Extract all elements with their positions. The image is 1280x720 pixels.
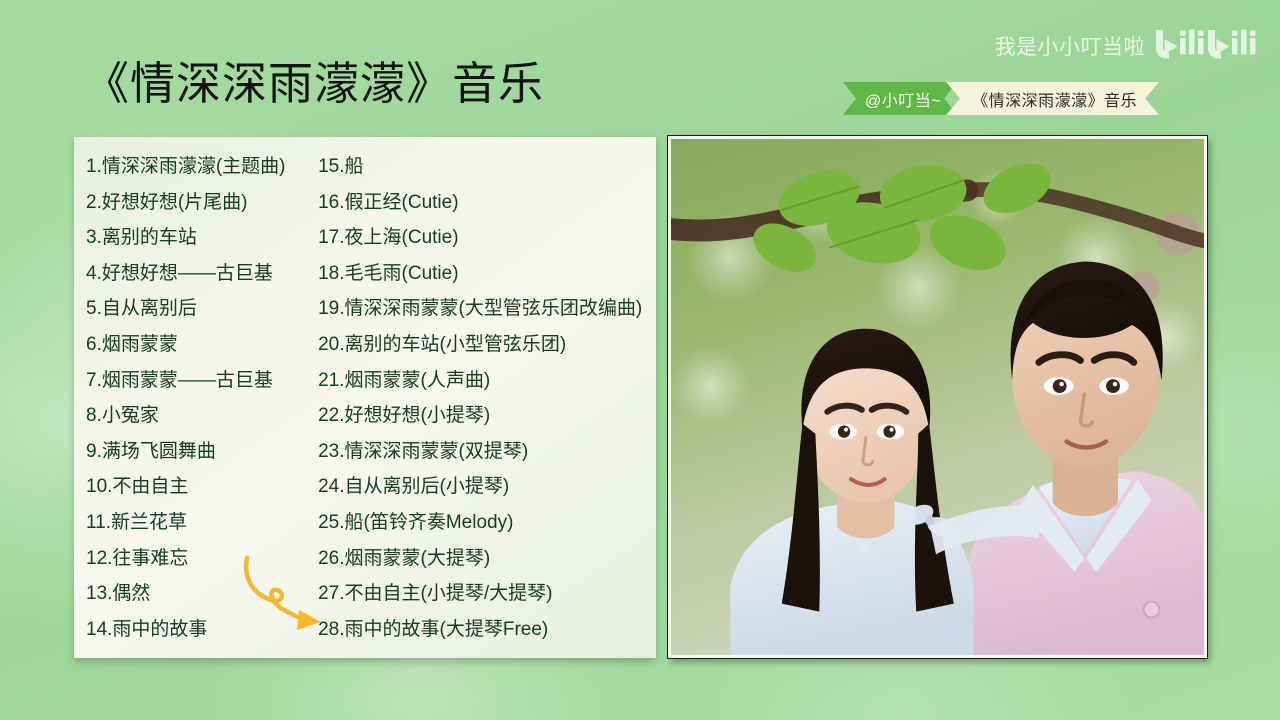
drama-still-image: [671, 139, 1204, 655]
track-item: 21.烟雨蒙蒙(人声曲): [318, 363, 656, 399]
track-item: 13.偶然: [86, 576, 318, 612]
track-item: 22.好想好想(小提琴): [318, 398, 656, 434]
ribbon-handle-label: @小叮当~: [843, 82, 957, 115]
track-item: 28.雨中的故事(大提琴Free): [318, 612, 656, 648]
track-item: 15.船: [318, 149, 656, 185]
track-item: 17.夜上海(Cutie): [318, 220, 656, 256]
track-item: 11.新兰花草: [86, 505, 318, 541]
track-item: 19.情深深雨蒙蒙(大型管弦乐团改编曲): [318, 291, 656, 327]
photo-panel: [668, 136, 1207, 658]
track-item: 16.假正经(Cutie): [318, 185, 656, 221]
track-item: 7.烟雨蒙蒙——古巨基: [86, 363, 318, 399]
bilibili-logo: [1154, 26, 1258, 65]
screenshot-stage: 《情深深雨濛濛》音乐 我是小小叮当啦: [0, 0, 1280, 720]
track-item: 9.满场飞圆舞曲: [86, 434, 318, 470]
track-item: 24.自从离别后(小提琴): [318, 469, 656, 505]
track-item: 23.情深深雨蒙蒙(双提琴): [318, 434, 656, 470]
page-title: 《情深深雨濛濛》音乐: [84, 58, 544, 110]
track-item: 2.好想好想(片尾曲): [86, 185, 318, 221]
tracklist-column-right: 15.船 16.假正经(Cutie) 17.夜上海(Cutie) 18.毛毛雨(…: [318, 149, 656, 658]
track-item: 18.毛毛雨(Cutie): [318, 256, 656, 292]
ribbon-title-label: 《情深深雨濛濛》音乐: [946, 82, 1159, 115]
track-item: 14.雨中的故事: [86, 612, 318, 648]
track-item: 8.小冤家: [86, 398, 318, 434]
track-item: 6.烟雨蒙蒙: [86, 327, 318, 363]
track-item: 4.好想好想——古巨基: [86, 256, 318, 292]
watermark: 我是小小叮当啦: [995, 26, 1259, 65]
track-item: 1.情深深雨濛濛(主题曲): [86, 149, 318, 185]
track-item: 25.船(笛铃齐奏Melody): [318, 505, 656, 541]
track-item: 5.自从离别后: [86, 291, 318, 327]
watermark-username: 我是小小叮当啦: [995, 31, 1146, 61]
ribbon-banner: @小叮当~ 《情深深雨濛濛》音乐: [843, 82, 1159, 115]
tracklist-column-left: 1.情深深雨濛濛(主题曲) 2.好想好想(片尾曲) 3.离别的车站 4.好想好想…: [74, 149, 318, 658]
track-item: 10.不由自主: [86, 469, 318, 505]
track-item: 3.离别的车站: [86, 220, 318, 256]
track-item: 12.往事难忘: [86, 541, 318, 577]
tracklist-panel: 1.情深深雨濛濛(主题曲) 2.好想好想(片尾曲) 3.离别的车站 4.好想好想…: [74, 137, 656, 658]
tracklist-columns: 1.情深深雨濛濛(主题曲) 2.好想好想(片尾曲) 3.离别的车站 4.好想好想…: [74, 137, 656, 658]
track-item: 26.烟雨蒙蒙(大提琴): [318, 541, 656, 577]
track-item: 27.不由自主(小提琴/大提琴): [318, 576, 656, 612]
track-item: 20.离别的车站(小型管弦乐团): [318, 327, 656, 363]
